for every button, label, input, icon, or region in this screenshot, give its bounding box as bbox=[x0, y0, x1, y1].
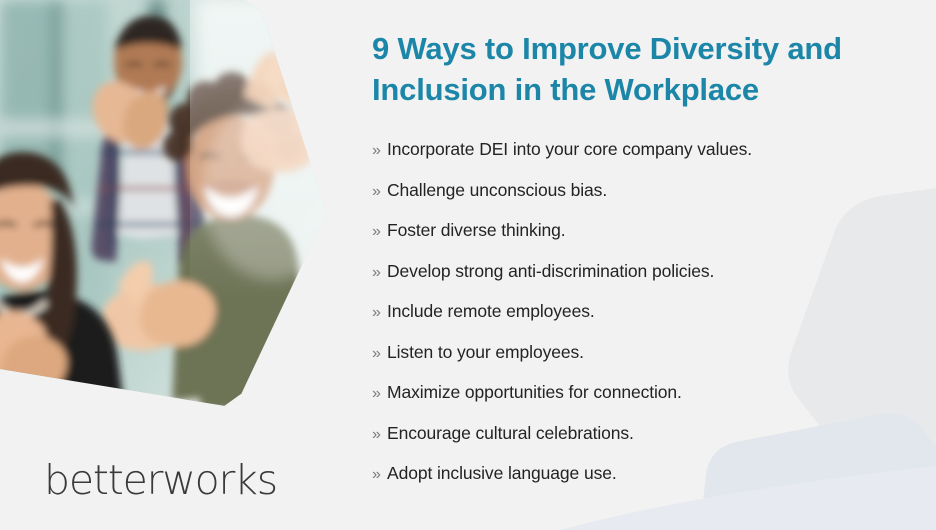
list-item-label: Listen to your employees. bbox=[387, 342, 584, 362]
bullet-marker-icon: » bbox=[372, 263, 387, 283]
list-item: » Incorporate DEI into your core company… bbox=[372, 139, 902, 180]
betterworks-wordmark-icon: betterworks bbox=[44, 459, 294, 505]
list-item: » Listen to your employees. bbox=[372, 342, 902, 383]
list-item-label: Incorporate DEI into your core company v… bbox=[387, 139, 752, 159]
logo-text: betterworks bbox=[44, 459, 277, 504]
bullet-marker-icon: » bbox=[372, 344, 387, 364]
list-item-label: Challenge unconscious bias. bbox=[387, 180, 607, 200]
list-item-label: Adopt inclusive language use. bbox=[387, 463, 617, 483]
list-item-label: Foster diverse thinking. bbox=[387, 220, 566, 240]
bullet-marker-icon: » bbox=[372, 182, 387, 202]
bullet-marker-icon: » bbox=[372, 465, 387, 485]
tips-list: » Incorporate DEI into your core company… bbox=[372, 139, 902, 504]
list-item: » Develop strong anti-discrimination pol… bbox=[372, 261, 902, 302]
list-item: » Challenge unconscious bias. bbox=[372, 180, 902, 221]
list-item-label: Develop strong anti-discrimination polic… bbox=[387, 261, 714, 281]
betterworks-logo: betterworks bbox=[44, 459, 294, 505]
bullet-marker-icon: » bbox=[372, 303, 387, 323]
list-item-label: Encourage cultural celebrations. bbox=[387, 423, 634, 443]
bullet-marker-icon: » bbox=[372, 222, 387, 242]
bullet-marker-icon: » bbox=[372, 141, 387, 161]
list-item: » Adopt inclusive language use. bbox=[372, 463, 902, 504]
list-item-label: Maximize opportunities for connection. bbox=[387, 382, 682, 402]
list-item-label: Include remote employees. bbox=[387, 301, 595, 321]
bullet-marker-icon: » bbox=[372, 425, 387, 445]
list-item: » Include remote employees. bbox=[372, 301, 902, 342]
page-title: 9 Ways to Improve Diversity and Inclusio… bbox=[372, 29, 892, 110]
hero-photo-artwork bbox=[0, 0, 340, 410]
bullet-marker-icon: » bbox=[372, 384, 387, 404]
hero-photo bbox=[0, 0, 340, 410]
list-item: » Encourage cultural celebrations. bbox=[372, 423, 902, 464]
slide-canvas: 9 Ways to Improve Diversity and Inclusio… bbox=[0, 0, 936, 530]
list-item: » Maximize opportunities for connection. bbox=[372, 382, 902, 423]
list-item: » Foster diverse thinking. bbox=[372, 220, 902, 261]
content-column: 9 Ways to Improve Diversity and Inclusio… bbox=[372, 0, 912, 530]
